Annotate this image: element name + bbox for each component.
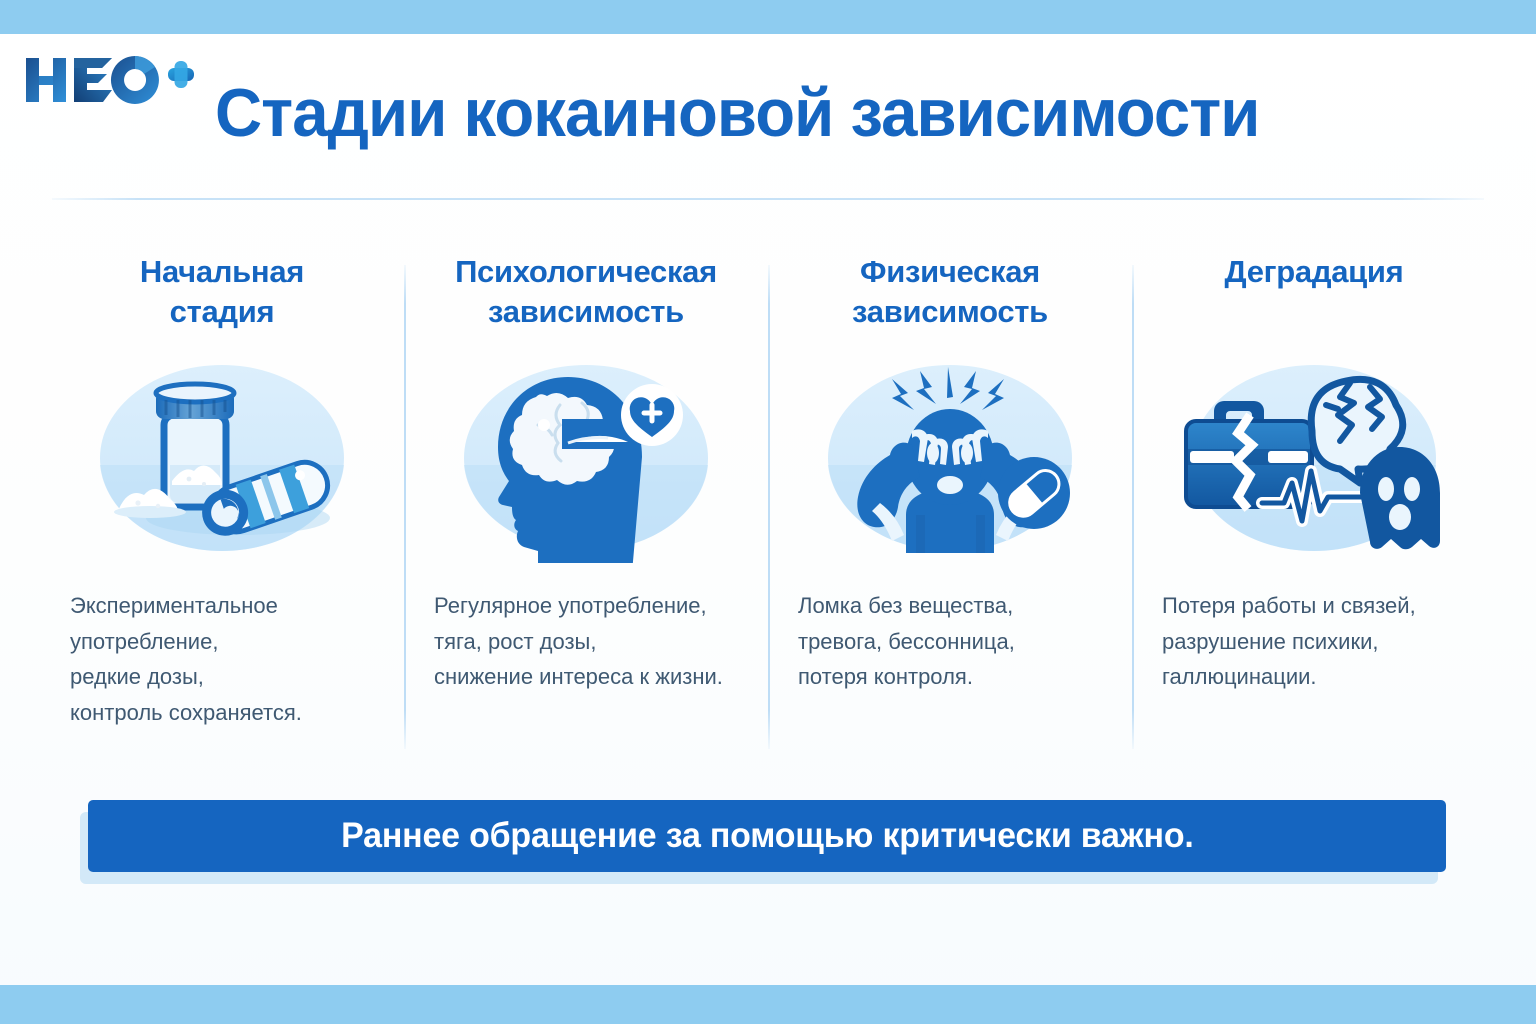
stage-body-3: Ломка без вещества, тревога, бессонница,… — [786, 588, 1114, 695]
top-accent-band — [0, 0, 1536, 34]
stage-column-3: Физическая зависимость — [768, 252, 1132, 762]
stage-body-line-4: контроль сохраняется. — [70, 695, 386, 731]
page-title: Стадии кокаиновой зависимости — [215, 74, 1259, 152]
stage-title-line-1: Физическая — [786, 252, 1114, 292]
stage-title-1: Начальная стадия — [58, 252, 386, 338]
stage-title-line-1: Начальная — [58, 252, 386, 292]
neo-plus-logo — [22, 52, 198, 108]
stage-body-line-3: редкие дозы, — [70, 659, 386, 695]
stage-title-3: Физическая зависимость — [786, 252, 1114, 338]
stage-column-2: Психологическая зависимость — [404, 252, 768, 762]
stage-title-line-2: стадия — [58, 292, 386, 332]
stage-body-1: Экспериментальное употребление, редкие д… — [58, 588, 386, 731]
stage-column-1: Начальная стадия — [40, 252, 404, 762]
head-brain-craving-icon — [422, 342, 750, 574]
stage-body-line-2: тяга, рост дозы, — [434, 624, 750, 660]
stage-body-line-2: употребление, — [70, 624, 386, 660]
stage-body-line-2: разрушение психики, — [1162, 624, 1478, 660]
stage-body-line-3: снижение интереса к жизни. — [434, 659, 750, 695]
stage-title-line-2: зависимость — [786, 292, 1114, 332]
stage-body-line-1: Экспериментальное — [70, 588, 386, 624]
stage-title-line-1: Психологическая — [422, 252, 750, 292]
stage-body-line-1: Регулярное употребление, — [434, 588, 750, 624]
header-divider — [52, 198, 1484, 200]
stage-title-line-1: Деградация — [1150, 252, 1478, 292]
stage-title-2: Психологическая зависимость — [422, 252, 750, 338]
stage-body-line-3: галлюцинации. — [1162, 659, 1478, 695]
stage-body-4: Потеря работы и связей, разрушение психи… — [1150, 588, 1478, 695]
banner-text: Раннее обращение за помощью критически в… — [341, 816, 1193, 856]
stage-title-line-2: зависимость — [422, 292, 750, 332]
bottom-accent-band — [0, 985, 1536, 1024]
stage-body-line-3: потеря контроля. — [798, 659, 1114, 695]
stage-column-4: Деградация — [1132, 252, 1496, 762]
stage-body-line-2: тревога, бессонница, — [798, 624, 1114, 660]
stage-body-line-1: Ломка без вещества, — [798, 588, 1114, 624]
withdrawal-headache-pill-icon — [786, 342, 1114, 574]
infographic-page: Стадии кокаиновой зависимости Начальная … — [0, 0, 1536, 1024]
stage-body-line-1: Потеря работы и связей, — [1162, 588, 1478, 624]
call-to-action-banner: Раннее обращение за помощью критически в… — [88, 800, 1446, 872]
powder-jar-and-rolled-note-icon — [58, 342, 386, 574]
stage-title-4: Деградация — [1150, 252, 1478, 338]
broken-briefcase-brain-ghost-icon — [1150, 342, 1478, 574]
stages-row: Начальная стадия — [40, 252, 1496, 762]
stage-body-2: Регулярное употребление, тяга, рост дозы… — [422, 588, 750, 695]
